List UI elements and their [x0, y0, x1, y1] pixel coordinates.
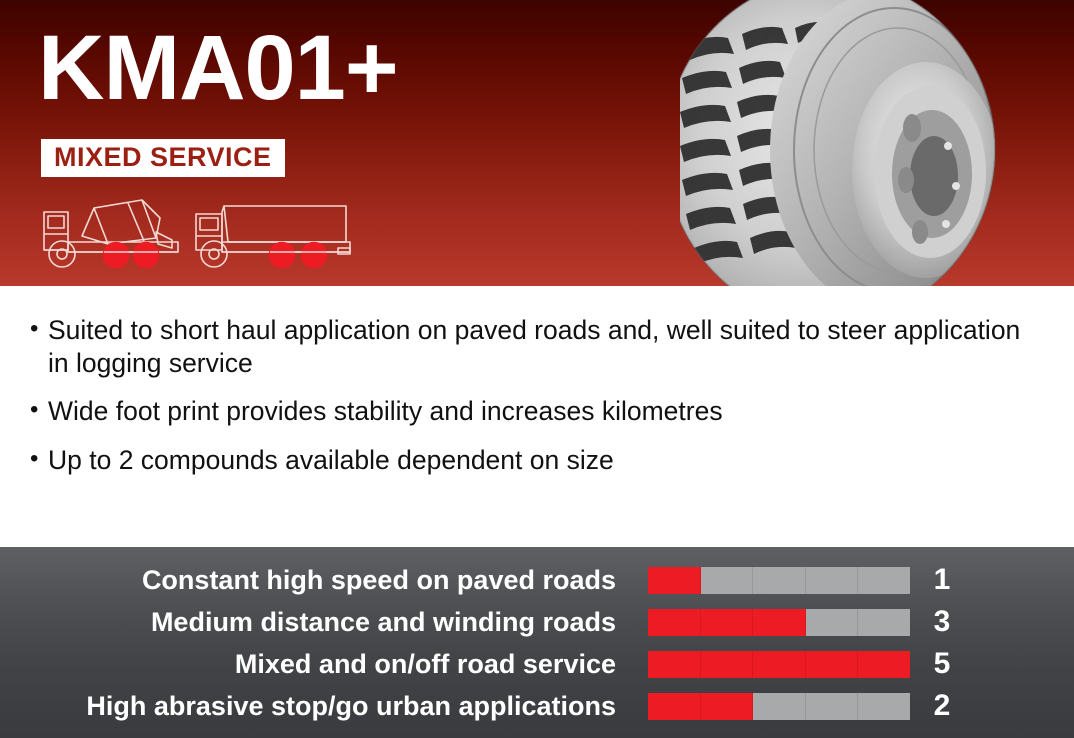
- rating-segment: [648, 693, 701, 720]
- rating-row: Mixed and on/off road service 5: [0, 643, 1074, 685]
- rating-segment: [701, 651, 754, 678]
- rating-segment: [648, 609, 701, 636]
- service-category-badge: MIXED SERVICE: [41, 139, 285, 177]
- rating-segment: [858, 609, 910, 636]
- rating-segment: [858, 567, 910, 594]
- rating-segment: [701, 609, 754, 636]
- rating-segment: [806, 651, 859, 678]
- rating-segment: [753, 693, 806, 720]
- rating-segment: [806, 567, 859, 594]
- list-item: • Suited to short haul application on pa…: [30, 314, 1046, 379]
- bullet-icon: •: [30, 395, 48, 424]
- feature-text: Suited to short haul application on pave…: [48, 314, 1043, 379]
- truck-icons-group: [38, 192, 368, 274]
- rating-value: 5: [910, 649, 962, 679]
- rating-segment: [701, 567, 754, 594]
- rating-label: Medium distance and winding roads: [0, 609, 648, 636]
- rating-segment: [753, 567, 806, 594]
- bullet-icon: •: [30, 314, 48, 343]
- rating-label: High abrasive stop/go urban applications: [0, 693, 648, 720]
- rating-segment: [753, 609, 806, 636]
- feature-text: Up to 2 compounds available dependent on…: [48, 444, 614, 477]
- rating-bar: [648, 567, 910, 594]
- page-title: KMA01+: [38, 22, 398, 114]
- rating-row: Constant high speed on paved roads 1: [0, 559, 1074, 601]
- tire-photo: KMA 01 ENDURANCE: [680, 0, 1074, 286]
- list-item: • Wide foot print provides stability and…: [30, 395, 1046, 428]
- rating-bar: [648, 693, 910, 720]
- dump-truck-icon: [196, 206, 350, 268]
- rating-segment: [858, 693, 910, 720]
- concrete-mixer-truck-icon: [44, 200, 178, 268]
- header-banner: KMA01+ MIXED SERVICE: [0, 0, 1074, 286]
- rating-value: 1: [910, 565, 962, 595]
- features-section: • Suited to short haul application on pa…: [0, 286, 1074, 546]
- rating-segment: [648, 651, 701, 678]
- rating-segment: [753, 651, 806, 678]
- rating-segment: [858, 651, 910, 678]
- rating-segment: [701, 693, 754, 720]
- rating-bar: [648, 651, 910, 678]
- rating-bar: [648, 609, 910, 636]
- rating-segment: [648, 567, 701, 594]
- feature-text: Wide foot print provides stability and i…: [48, 395, 723, 428]
- rating-value: 2: [910, 691, 962, 721]
- rating-label: Constant high speed on paved roads: [0, 567, 648, 594]
- list-item: • Up to 2 compounds available dependent …: [30, 444, 1046, 477]
- rating-row: High abrasive stop/go urban applications…: [0, 685, 1074, 727]
- banner-left-content: KMA01+ MIXED SERVICE: [0, 0, 700, 286]
- bullet-icon: •: [30, 444, 48, 473]
- ratings-panel: Constant high speed on paved roads 1 Med…: [0, 547, 1074, 738]
- rating-row: Medium distance and winding roads 3: [0, 601, 1074, 643]
- rating-label: Mixed and on/off road service: [0, 651, 648, 678]
- rating-value: 3: [910, 607, 962, 637]
- rating-segment: [806, 693, 859, 720]
- rating-segment: [806, 609, 859, 636]
